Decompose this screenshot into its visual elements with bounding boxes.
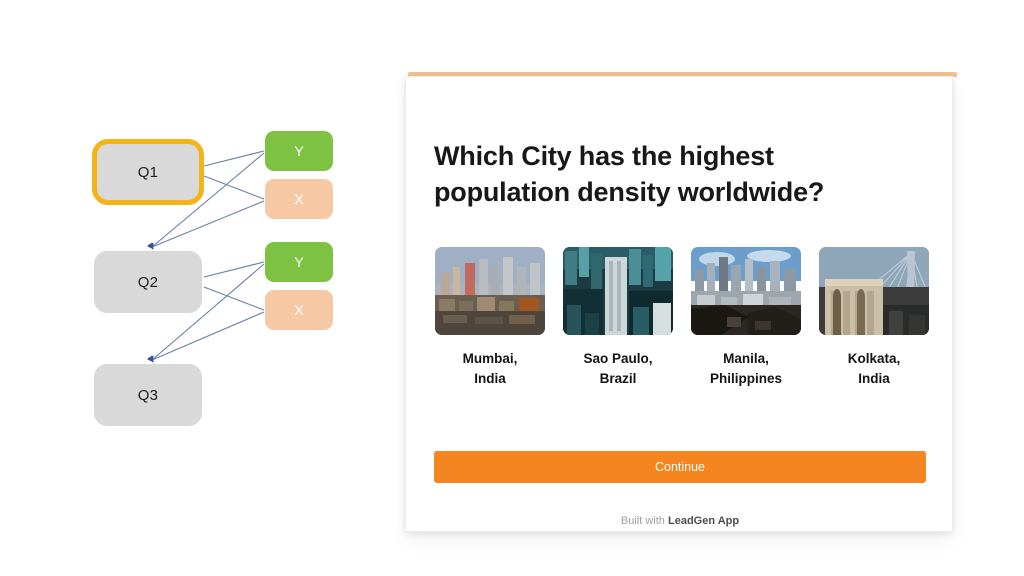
footer-brand-leadgen-app[interactable]: LeadGen App bbox=[668, 515, 739, 527]
flow-node-q1-label: Q1 bbox=[138, 164, 158, 181]
flow-answer-node-q1-no[interactable]: X bbox=[265, 179, 333, 219]
card-footer: Built with LeadGen App bbox=[406, 515, 954, 527]
flow-node-q3[interactable]: Q3 bbox=[94, 364, 202, 426]
sao-paulo-skyline-photo bbox=[563, 247, 673, 335]
answer-option-label: Manila,Philippines bbox=[710, 349, 782, 388]
flow-answer-label: X bbox=[294, 302, 303, 318]
flow-answer-label: Y bbox=[294, 254, 303, 270]
flow-node-q2[interactable]: Q2 bbox=[94, 251, 202, 313]
flow-answer-node-q2-yes[interactable]: Y bbox=[265, 242, 333, 282]
continue-button[interactable]: Continue bbox=[434, 451, 926, 483]
flow-answer-label: Y bbox=[294, 143, 303, 159]
edge-q2-to-yes bbox=[204, 262, 264, 277]
kolkata-bridge-photo bbox=[819, 247, 929, 335]
mumbai-skyline-photo bbox=[435, 247, 545, 335]
answer-option-label: Sao Paulo,Brazil bbox=[583, 349, 652, 388]
flow-node-q1[interactable]: Q1 bbox=[92, 139, 204, 205]
question-card: Which City has the highest population de… bbox=[405, 76, 953, 532]
edge-q2-to-no bbox=[204, 287, 264, 310]
edge-q1no-to-q2 bbox=[152, 201, 264, 247]
answer-option-sao-paulo[interactable]: Sao Paulo,Brazil bbox=[558, 247, 678, 388]
flow-node-q3-label: Q3 bbox=[138, 387, 158, 404]
manila-skyline-photo bbox=[691, 247, 801, 335]
flow-answer-node-q2-no[interactable]: X bbox=[265, 290, 333, 330]
flow-answer-label: X bbox=[294, 191, 303, 207]
edge-q1-to-yes bbox=[204, 151, 264, 166]
footer-prefix: Built with bbox=[621, 515, 668, 527]
answer-option-mumbai[interactable]: Mumbai,India bbox=[430, 247, 550, 388]
flow-node-q2-label: Q2 bbox=[138, 274, 158, 291]
answer-option-manila[interactable]: Manila,Philippines bbox=[686, 247, 806, 388]
form-preview: Which City has the highest population de… bbox=[405, 72, 957, 534]
answer-option-label: Kolkata,India bbox=[848, 349, 901, 388]
flow-answer-node-q1-yes[interactable]: Y bbox=[265, 131, 333, 171]
edge-q2no-to-q3 bbox=[152, 312, 264, 360]
answer-options-row: Mumbai,India bbox=[430, 247, 934, 388]
question-logic-flow-diagram: Q1 Q2 Q3 Y X Y X bbox=[0, 0, 400, 576]
page-title: Which City has the highest population de… bbox=[434, 139, 904, 210]
answer-option-kolkata[interactable]: Kolkata,India bbox=[814, 247, 934, 388]
answer-option-label: Mumbai,India bbox=[463, 349, 518, 388]
